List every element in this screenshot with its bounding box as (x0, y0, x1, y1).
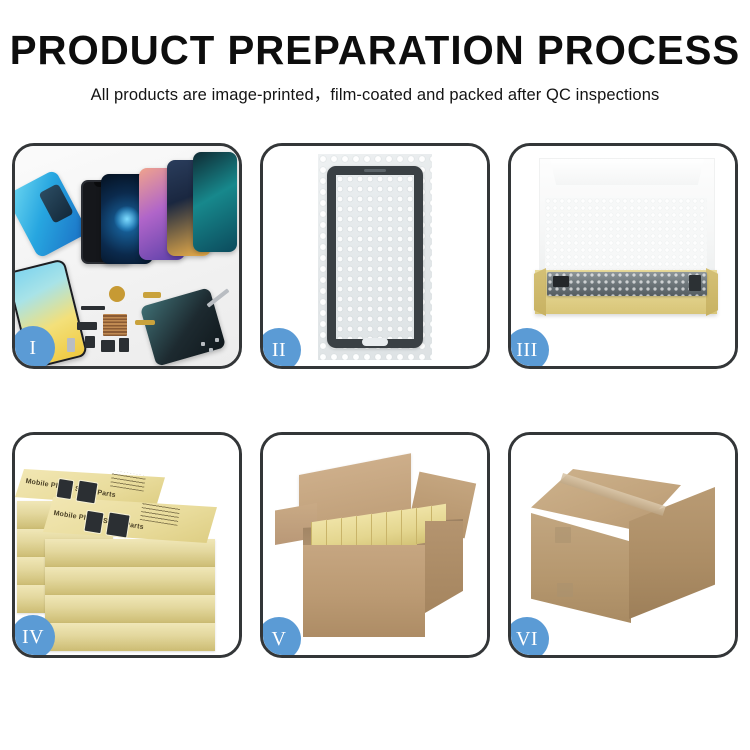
step-numeral: I (29, 337, 36, 360)
process-step-6: VI (508, 432, 738, 658)
part-button-set (85, 336, 95, 348)
process-step-4: Mobile Phone Spare Parts Mobile Phone Sp… (12, 432, 242, 658)
stacked-box-front-3 (45, 595, 215, 623)
page-subtitle: All products are image-printed，film-coat… (0, 71, 750, 104)
phone-teal-gradient (193, 152, 237, 252)
step-numeral: VI (516, 628, 538, 651)
part-connector-a (77, 322, 97, 330)
adhesive-screen-blue (15, 169, 89, 259)
step-numeral: III (516, 339, 537, 362)
step-badge-3: III (508, 328, 549, 369)
stacked-box-front-4 (45, 623, 215, 651)
process-step-3: III (508, 143, 738, 369)
packed-box-7 (401, 508, 417, 549)
packed-screen (547, 272, 707, 296)
product-preparation-infographic: PRODUCT PREPARATION PROCESS All products… (0, 0, 750, 750)
part-antenna-strip (81, 306, 105, 310)
part-screw-b (209, 348, 213, 352)
process-step-grid: I II III (12, 143, 738, 658)
box-art-screen-f2 (105, 511, 130, 538)
part-screw-c (215, 338, 219, 342)
page-title: PRODUCT PREPARATION PROCESS (8, 30, 743, 71)
wrapped-screen-glass (327, 166, 423, 348)
carton-side-front (303, 545, 425, 637)
tape-patch-upper (555, 527, 571, 543)
carton-side-right (425, 521, 463, 613)
part-speaker-coil (109, 286, 125, 302)
box-art-screen-f1 (83, 510, 104, 535)
step-badge-2: II (260, 328, 301, 369)
stacked-box-front-1 (45, 539, 215, 567)
step-numeral: IV (22, 626, 44, 649)
part-flex-cable-a (143, 292, 161, 298)
part-camera-module (101, 340, 115, 352)
process-step-1: I (12, 143, 242, 369)
box-art-screen-r1 (56, 478, 75, 500)
part-earpiece-mesh (103, 314, 127, 336)
box-art-screen-r2 (75, 480, 98, 505)
part-screw-a (201, 342, 205, 346)
step-3-image (511, 146, 735, 366)
step-badge-6: VI (508, 617, 549, 658)
process-step-5: V (260, 432, 490, 658)
step-6-image (511, 435, 735, 655)
step-numeral: V (272, 628, 287, 651)
carton-front-face (531, 513, 631, 623)
header: PRODUCT PREPARATION PROCESS All products… (0, 0, 750, 104)
foam-padding (545, 198, 707, 272)
part-vibrator (119, 338, 129, 352)
step-badge-5: V (260, 617, 301, 658)
part-flex-cable-b (135, 320, 155, 325)
stacked-box-front-2 (45, 567, 215, 595)
part-sim-tray (67, 338, 75, 352)
process-step-2: II (260, 143, 490, 369)
step-badge-1: I (12, 326, 55, 369)
step-numeral: II (272, 339, 286, 362)
tape-patch-lower (557, 583, 573, 597)
step-badge-4: IV (12, 615, 55, 658)
step-5-image (263, 435, 487, 655)
step-2-image (263, 146, 487, 366)
